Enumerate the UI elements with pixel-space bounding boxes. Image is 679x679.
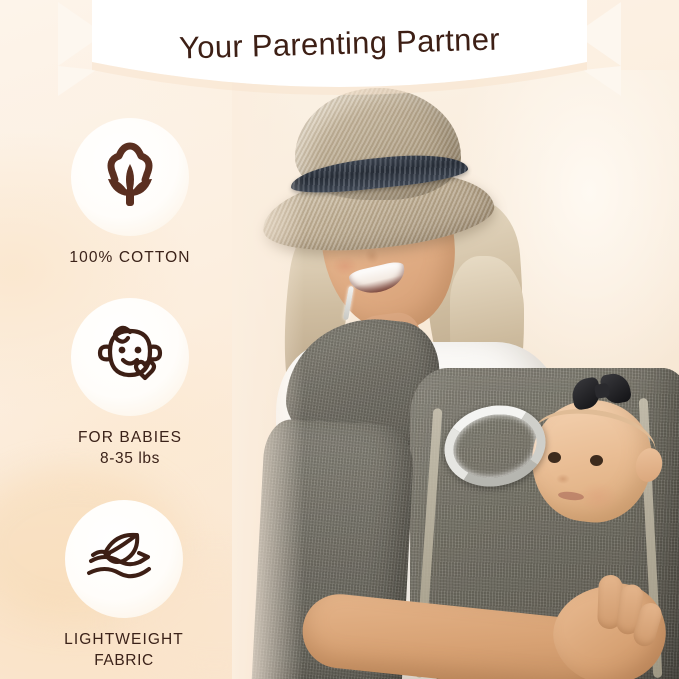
feature-lightweight[interactable]: LIGHTWEIGHT FABRIC [16,500,232,672]
badge-circle [65,500,183,618]
baby-face-icon [90,321,170,393]
photo-edge-fade [232,70,304,679]
baby-cheek [578,482,618,512]
feature-label: FOR BABIES [22,427,238,448]
feature-label: LIGHTWEIGHT [16,629,232,650]
feature-babies[interactable]: FOR BABIES 8-35 lbs [22,298,238,470]
product-feature-image: Your Parenting Partner 100% COTTON [0,0,679,679]
banner-ribbon: Your Parenting Partner [0,0,679,112]
baby-nose [556,474,570,484]
hero-photo [232,70,679,679]
feather-fabric-icon [81,527,167,591]
feature-label: 100% COTTON [22,247,238,268]
badge-circle [71,298,189,416]
feature-sublabel: 8-35 lbs [22,448,238,469]
feature-sublabel: FABRIC [16,650,232,671]
badge-circle [71,118,189,236]
cotton-boll-icon [91,138,169,216]
feature-cotton[interactable]: 100% COTTON [22,118,238,268]
bow-knot [594,383,610,399]
